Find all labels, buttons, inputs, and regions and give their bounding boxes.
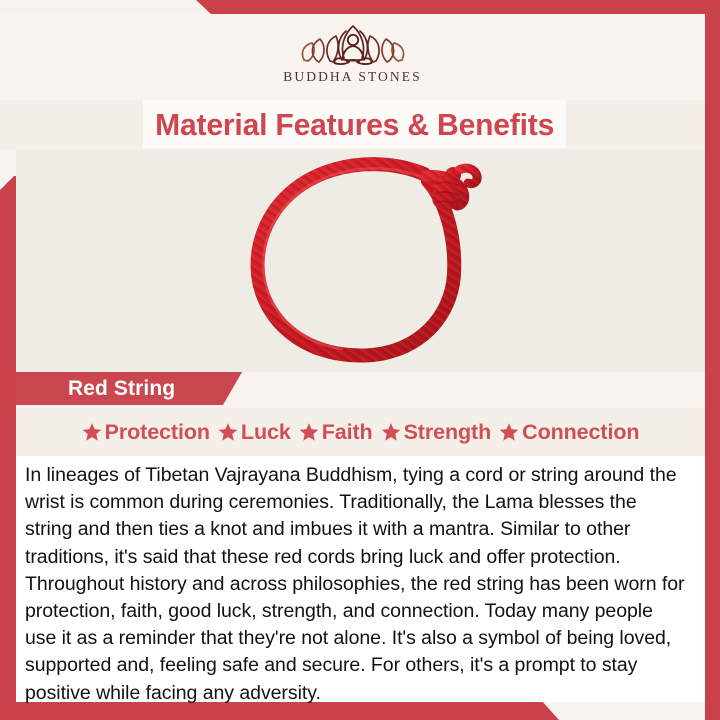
star-icon [499, 422, 519, 442]
star-icon [381, 422, 401, 442]
product-photo-area [16, 150, 705, 372]
benefit-item-faith: Faith [295, 420, 377, 445]
infographic-page: BUDDHA STONES Material Features & Benefi… [0, 0, 720, 720]
left-red-accent-bar [0, 176, 16, 720]
brand-name: BUDDHA STONES [283, 69, 421, 85]
lotus-meditation-icon [294, 16, 412, 68]
right-red-accent-bar [705, 0, 720, 720]
description-panel: In lineages of Tibetan Vajrayana Buddhis… [16, 456, 705, 702]
page-title: Material Features & Benefits [155, 109, 554, 140]
product-label-banner: Red String [16, 372, 242, 405]
benefit-label: Protection [105, 420, 210, 445]
benefit-item-protection: Protection [78, 420, 214, 445]
benefits-row: ProtectionLuckFaithStrengthConnection [16, 408, 705, 456]
star-icon [299, 422, 319, 442]
description-text: In lineages of Tibetan Vajrayana Buddhis… [25, 462, 688, 707]
product-photo [16, 150, 705, 372]
page-title-plate: Material Features & Benefits [143, 100, 566, 148]
benefit-item-luck: Luck [214, 420, 295, 445]
benefit-label: Faith [322, 420, 373, 445]
star-icon [82, 422, 102, 442]
benefit-label: Luck [241, 420, 291, 445]
benefit-item-connection: Connection [495, 420, 643, 445]
red-string-bracelet-image [221, 150, 501, 372]
benefit-label: Connection [522, 420, 639, 445]
benefit-label: Strength [404, 420, 492, 445]
benefit-item-strength: Strength [377, 420, 496, 445]
star-icon [218, 422, 238, 442]
product-label: Red String [68, 377, 175, 401]
top-red-accent-band [0, 0, 720, 14]
brand-header: BUDDHA STONES [0, 14, 705, 100]
